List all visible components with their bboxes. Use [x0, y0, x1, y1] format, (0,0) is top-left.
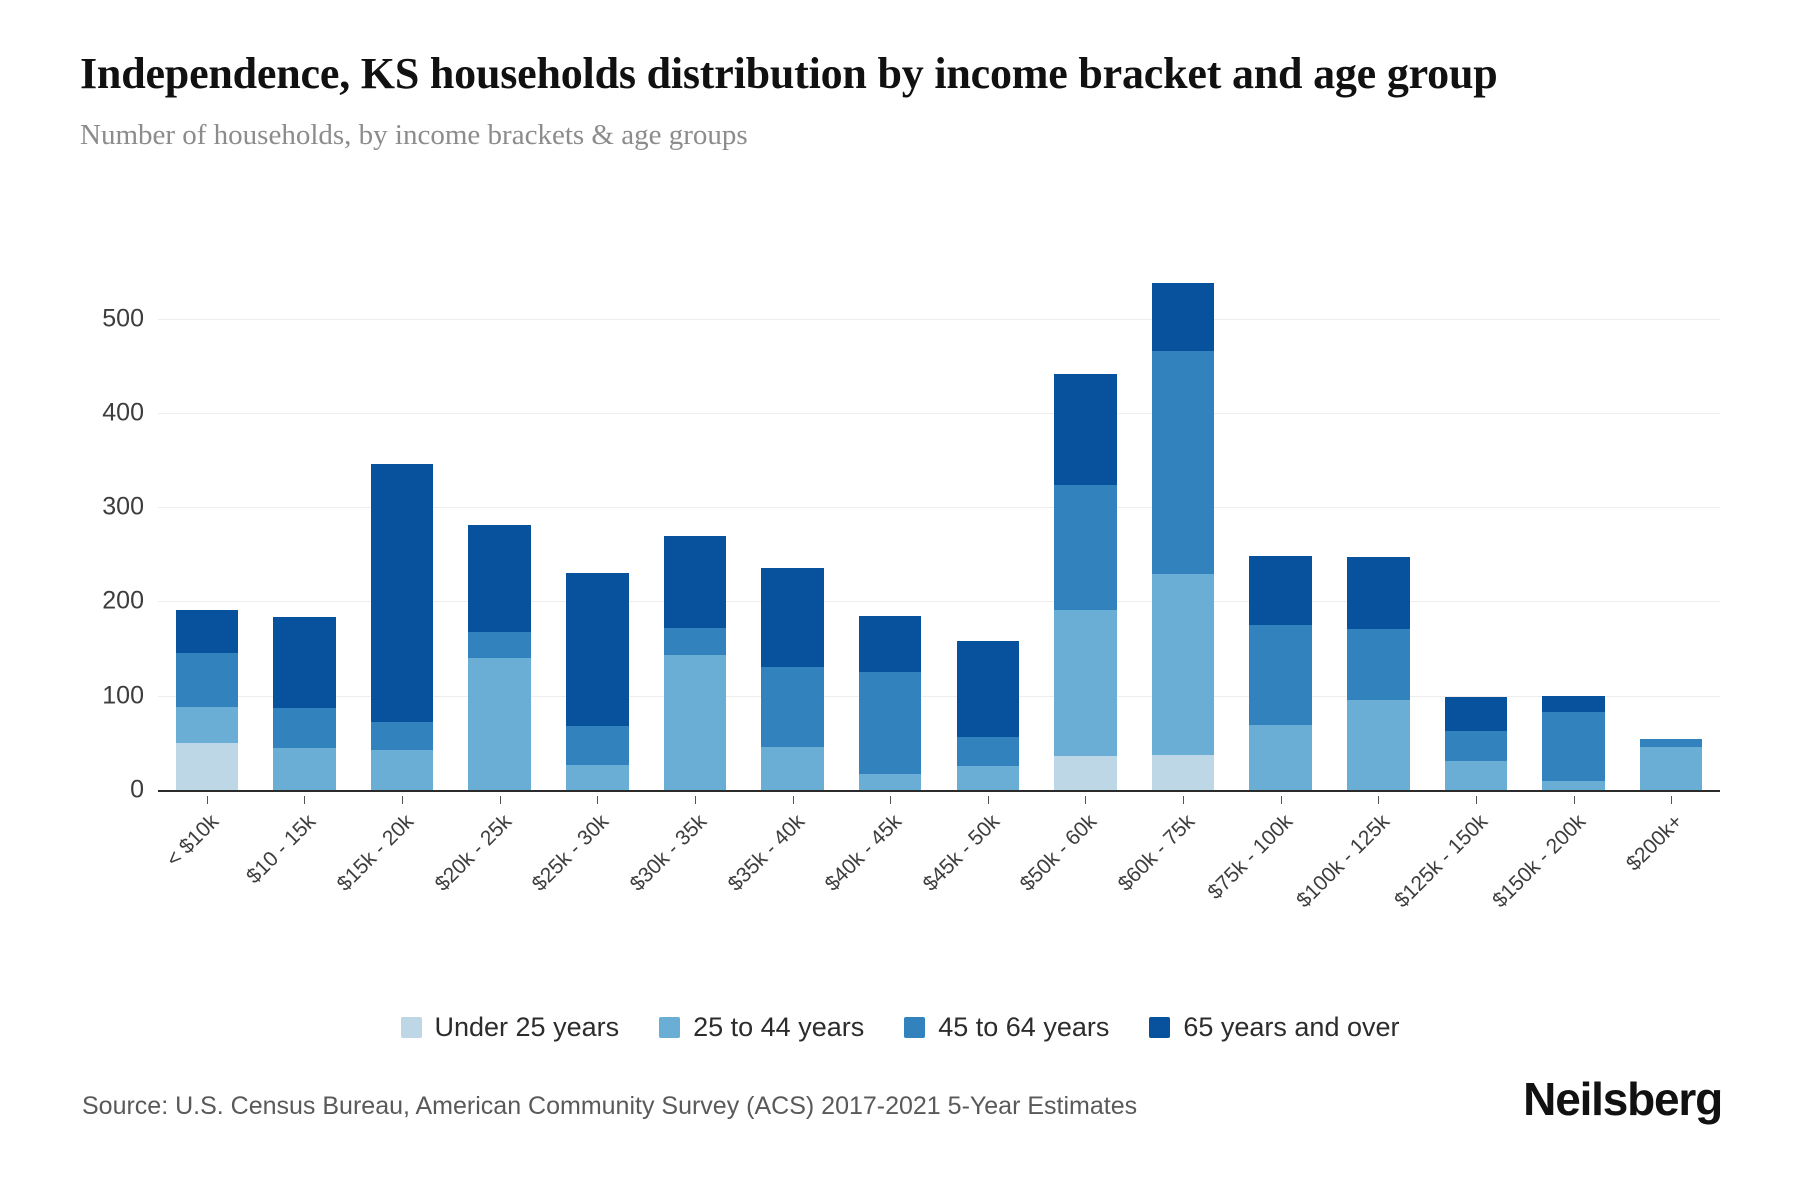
x-tick-group: < $10k	[158, 796, 256, 906]
x-tick-mark	[1085, 796, 1086, 804]
bar-segment[interactable]	[1054, 485, 1116, 609]
bar-segment[interactable]	[1640, 747, 1702, 790]
bar-column[interactable]	[1037, 262, 1135, 790]
bar-segment[interactable]	[1152, 283, 1214, 351]
x-tick-mark	[1671, 796, 1672, 804]
bar-segment[interactable]	[176, 653, 238, 707]
x-tick-mark	[304, 796, 305, 804]
x-tick-group: $35k - 40k	[744, 796, 842, 906]
bar-stack[interactable]	[761, 568, 823, 790]
bar-segment[interactable]	[664, 628, 726, 655]
bar-column[interactable]	[256, 262, 354, 790]
bar-stack[interactable]	[468, 525, 530, 790]
bar-segment[interactable]	[371, 750, 433, 790]
bar-column[interactable]	[1232, 262, 1330, 790]
bar-segment[interactable]	[664, 655, 726, 790]
bar-segment[interactable]	[566, 765, 628, 790]
source-note: Source: U.S. Census Bureau, American Com…	[82, 1092, 1137, 1121]
legend-item[interactable]: Under 25 years	[401, 1012, 620, 1043]
bar-stack[interactable]	[1249, 556, 1311, 790]
x-tick-group: $10 - 15k	[256, 796, 354, 906]
legend-label: 25 to 44 years	[693, 1012, 864, 1043]
x-tick-mark	[1476, 796, 1477, 804]
bar-segment[interactable]	[1249, 625, 1311, 725]
x-tick-group: $20k - 25k	[451, 796, 549, 906]
bar-column[interactable]	[353, 262, 451, 790]
bar-segment[interactable]	[1542, 696, 1604, 712]
bar-segment[interactable]	[273, 748, 335, 790]
bar-column[interactable]	[841, 262, 939, 790]
bar-segment[interactable]	[1152, 755, 1214, 790]
bar-segment[interactable]	[468, 525, 530, 632]
bar-segment[interactable]	[664, 536, 726, 627]
bar-segment[interactable]	[371, 722, 433, 750]
x-tick-mark	[1183, 796, 1184, 804]
bar-segment[interactable]	[566, 573, 628, 726]
x-tick-mark	[402, 796, 403, 804]
bar-segment[interactable]	[761, 747, 823, 790]
x-tick-mark	[1281, 796, 1282, 804]
bar-segment[interactable]	[1542, 781, 1604, 790]
x-tick-mark	[1574, 796, 1575, 804]
bar-segment[interactable]	[566, 726, 628, 765]
x-tick-mark	[890, 796, 891, 804]
y-tick-label: 400	[102, 398, 144, 427]
chart-subtitle: Number of households, by income brackets…	[80, 118, 1720, 153]
bar-segment[interactable]	[761, 667, 823, 746]
bar-column[interactable]	[158, 262, 256, 790]
bar-stack[interactable]	[859, 616, 921, 790]
bar-stack[interactable]	[1445, 697, 1507, 790]
bar-segment[interactable]	[176, 610, 238, 653]
x-tick-group: $25k - 30k	[549, 796, 647, 906]
bar-segment[interactable]	[1347, 557, 1409, 629]
x-tick-group: $150k - 200k	[1525, 796, 1623, 906]
x-tick-mark	[500, 796, 501, 804]
legend-label: 65 years and over	[1183, 1012, 1399, 1043]
bar-stack[interactable]	[566, 573, 628, 790]
x-tick-mark	[597, 796, 598, 804]
bar-segment[interactable]	[761, 568, 823, 667]
legend-item[interactable]: 65 years and over	[1149, 1012, 1399, 1043]
y-tick-label: 200	[102, 587, 144, 616]
bar-stack[interactable]	[1152, 283, 1214, 790]
bar-column[interactable]	[549, 262, 647, 790]
bar-segment[interactable]	[1445, 697, 1507, 731]
x-axis: < $10k$10 - 15k$15k - 20k$20k - 25k$25k …	[158, 796, 1720, 906]
x-tick-mark	[695, 796, 696, 804]
bar-stack[interactable]	[1542, 696, 1604, 790]
bar-column[interactable]	[1330, 262, 1428, 790]
bar-segment[interactable]	[176, 743, 238, 790]
bar-stack[interactable]	[664, 536, 726, 790]
bar-segment[interactable]	[176, 707, 238, 743]
bar-group	[158, 262, 1720, 790]
bar-segment[interactable]	[859, 774, 921, 790]
bar-segment[interactable]	[1152, 351, 1214, 574]
bar-stack[interactable]	[957, 641, 1019, 790]
chart-legend: Under 25 years25 to 44 years45 to 64 yea…	[0, 1012, 1800, 1043]
page-title: Independence, KS households distribution…	[80, 48, 1700, 100]
bar-segment[interactable]	[1054, 610, 1116, 756]
x-tick-mark	[988, 796, 989, 804]
legend-swatch-icon	[401, 1017, 422, 1038]
x-tick-label: $200k+	[1622, 810, 1688, 876]
bar-column[interactable]	[451, 262, 549, 790]
brand-logo: Neilsberg	[1523, 1072, 1722, 1126]
bar-column[interactable]	[1622, 262, 1720, 790]
x-tick-group: $200k+	[1622, 796, 1720, 906]
plot-area: 0100200300400500 < $10k$10 - 15k$15k - 2…	[80, 262, 1720, 912]
bar-segment[interactable]	[957, 737, 1019, 765]
bar-stack[interactable]	[1347, 557, 1409, 790]
x-tick-group: $30k - 35k	[646, 796, 744, 906]
legend-swatch-icon	[904, 1017, 925, 1038]
legend-item[interactable]: 25 to 44 years	[659, 1012, 864, 1043]
legend-item[interactable]: 45 to 64 years	[904, 1012, 1109, 1043]
bar-segment[interactable]	[1542, 712, 1604, 781]
bar-segment[interactable]	[1152, 574, 1214, 755]
bar-segment[interactable]	[859, 672, 921, 774]
y-tick-label: 300	[102, 493, 144, 522]
bar-segment[interactable]	[468, 632, 530, 658]
legend-label: Under 25 years	[435, 1012, 620, 1043]
bar-stack[interactable]	[1640, 739, 1702, 790]
bar-segment[interactable]	[1347, 700, 1409, 791]
x-tick-mark	[793, 796, 794, 804]
x-tick-group: $15k - 20k	[353, 796, 451, 906]
bar-segment[interactable]	[468, 658, 530, 790]
axis-baseline	[158, 790, 1720, 792]
bar-segment[interactable]	[1445, 731, 1507, 761]
chart-header: Independence, KS households distribution…	[80, 48, 1720, 153]
bar-column[interactable]	[1134, 262, 1232, 790]
bar-stack[interactable]	[371, 464, 433, 790]
bar-segment[interactable]	[859, 616, 921, 673]
bar-segment[interactable]	[957, 641, 1019, 737]
legend-label: 45 to 64 years	[938, 1012, 1109, 1043]
bar-segment[interactable]	[957, 766, 1019, 791]
chart-page: Independence, KS households distribution…	[0, 0, 1800, 1200]
bar-column[interactable]	[939, 262, 1037, 790]
legend-swatch-icon	[659, 1017, 680, 1038]
bar-segment[interactable]	[1347, 629, 1409, 700]
y-tick-label: 0	[130, 776, 144, 805]
bar-stack[interactable]	[1054, 374, 1116, 790]
bar-segment[interactable]	[1640, 739, 1702, 747]
y-tick-label: 500	[102, 304, 144, 333]
bar-stack[interactable]	[273, 617, 335, 790]
bar-column[interactable]	[646, 262, 744, 790]
y-axis: 0100200300400500	[80, 262, 158, 790]
x-tick-group: $40k - 45k	[841, 796, 939, 906]
bar-segment[interactable]	[1445, 761, 1507, 790]
bar-segment[interactable]	[371, 464, 433, 722]
bar-segment[interactable]	[273, 617, 335, 708]
bar-column[interactable]	[1525, 262, 1623, 790]
x-tick-label: < $10k	[162, 810, 224, 872]
x-tick-group: $45k - 50k	[939, 796, 1037, 906]
bar-column[interactable]	[744, 262, 842, 790]
bar-segment[interactable]	[1054, 756, 1116, 790]
bar-segment[interactable]	[1054, 374, 1116, 485]
x-tick-mark	[1378, 796, 1379, 804]
bar-column[interactable]	[1427, 262, 1525, 790]
y-tick-label: 100	[102, 681, 144, 710]
x-tick-group: $50k - 60k	[1037, 796, 1135, 906]
bar-segment[interactable]	[1249, 556, 1311, 625]
x-tick-mark	[207, 796, 208, 804]
legend-swatch-icon	[1149, 1017, 1170, 1038]
bar-segment[interactable]	[273, 708, 335, 748]
bar-segment[interactable]	[1249, 725, 1311, 790]
bar-stack[interactable]	[176, 610, 238, 790]
